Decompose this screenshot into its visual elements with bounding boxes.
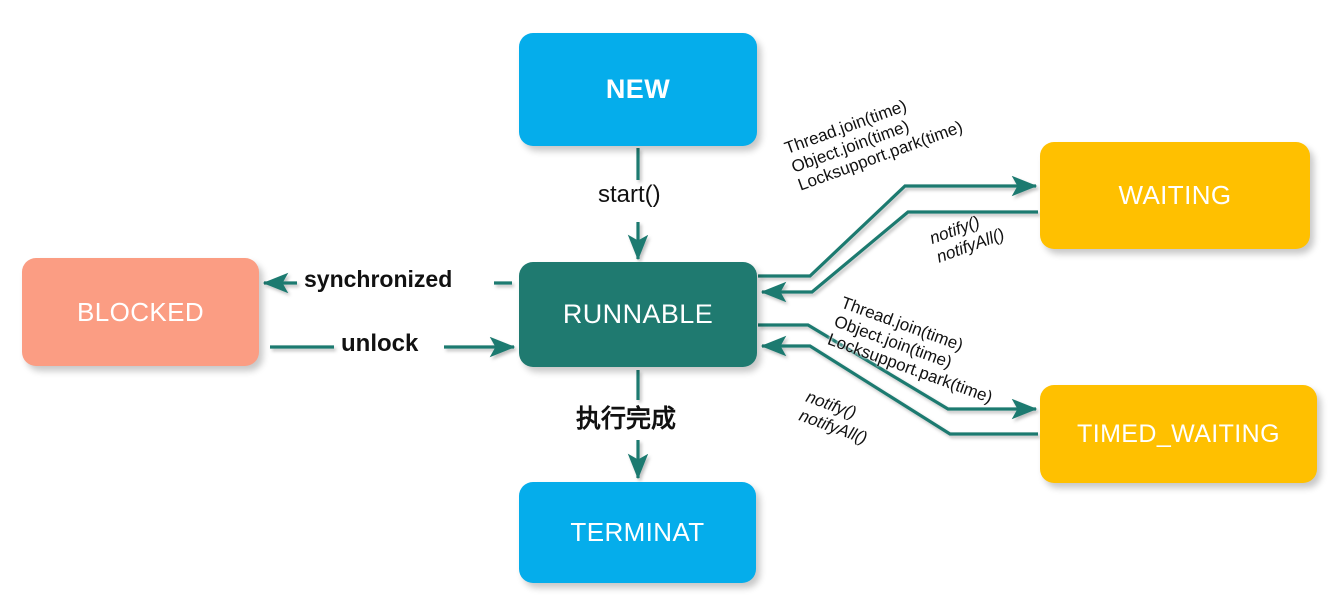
state-node-blocked-label: BLOCKED [77,297,204,328]
state-node-terminated-label: TERMINAT [570,517,704,548]
state-node-waiting-label: WAITING [1118,180,1231,211]
state-node-new-label: NEW [606,74,670,105]
edge-label-execution-complete: 执行完成 [576,405,676,433]
thread-state-diagram: NEW RUNNABLE TERMINAT BLOCKED WAITING TI… [0,0,1330,604]
edge-label-start: start() [598,182,661,209]
state-node-blocked[interactable]: BLOCKED [22,258,259,366]
state-node-runnable-label: RUNNABLE [563,299,713,330]
state-node-waiting[interactable]: WAITING [1040,142,1310,249]
edge-label-unlock: unlock [341,331,418,358]
edge-label-synchronized: synchronized [304,267,452,293]
state-node-runnable[interactable]: RUNNABLE [519,262,757,367]
state-node-new[interactable]: NEW [519,33,757,146]
state-node-timed-waiting-label: TIMED_WAITING [1077,420,1280,449]
state-node-timed-waiting[interactable]: TIMED_WAITING [1040,385,1317,483]
state-node-terminated[interactable]: TERMINAT [519,482,756,583]
